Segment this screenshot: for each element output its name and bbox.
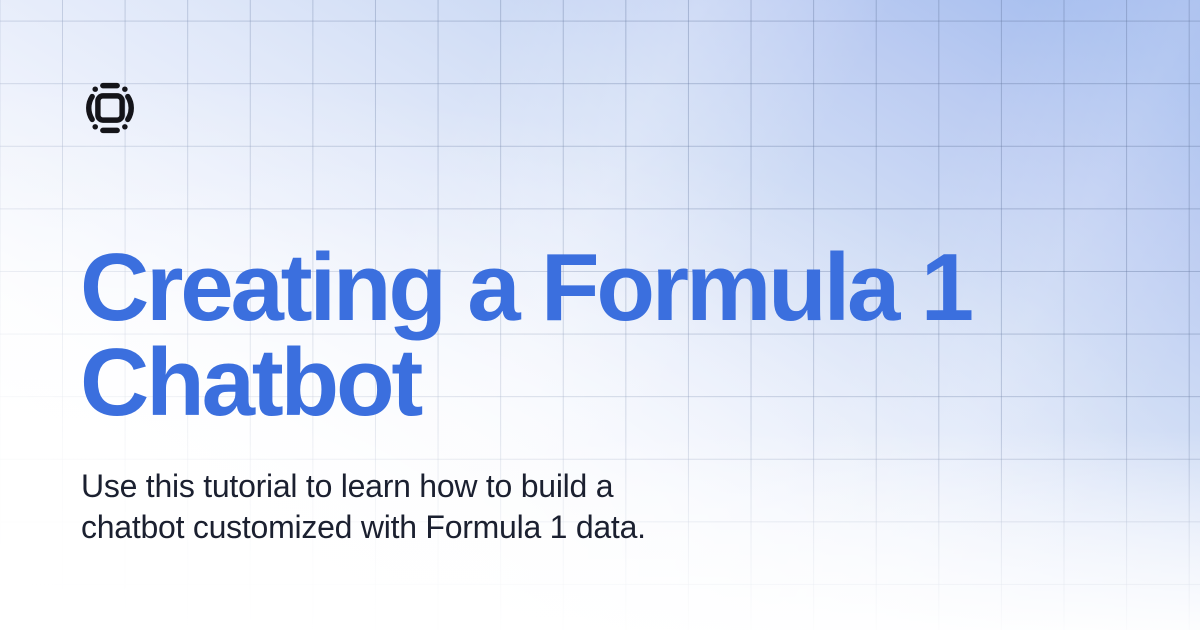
dashed-ring-square-logo-icon [79, 77, 141, 139]
card-content: Creating a Formula 1 Chatbot Use this tu… [0, 0, 1200, 630]
page-subtitle: Use this tutorial to learn how to build … [81, 466, 861, 548]
page-title: Creating a Formula 1 Chatbot [80, 240, 1080, 430]
share-card: Creating a Formula 1 Chatbot Use this tu… [0, 0, 1200, 630]
